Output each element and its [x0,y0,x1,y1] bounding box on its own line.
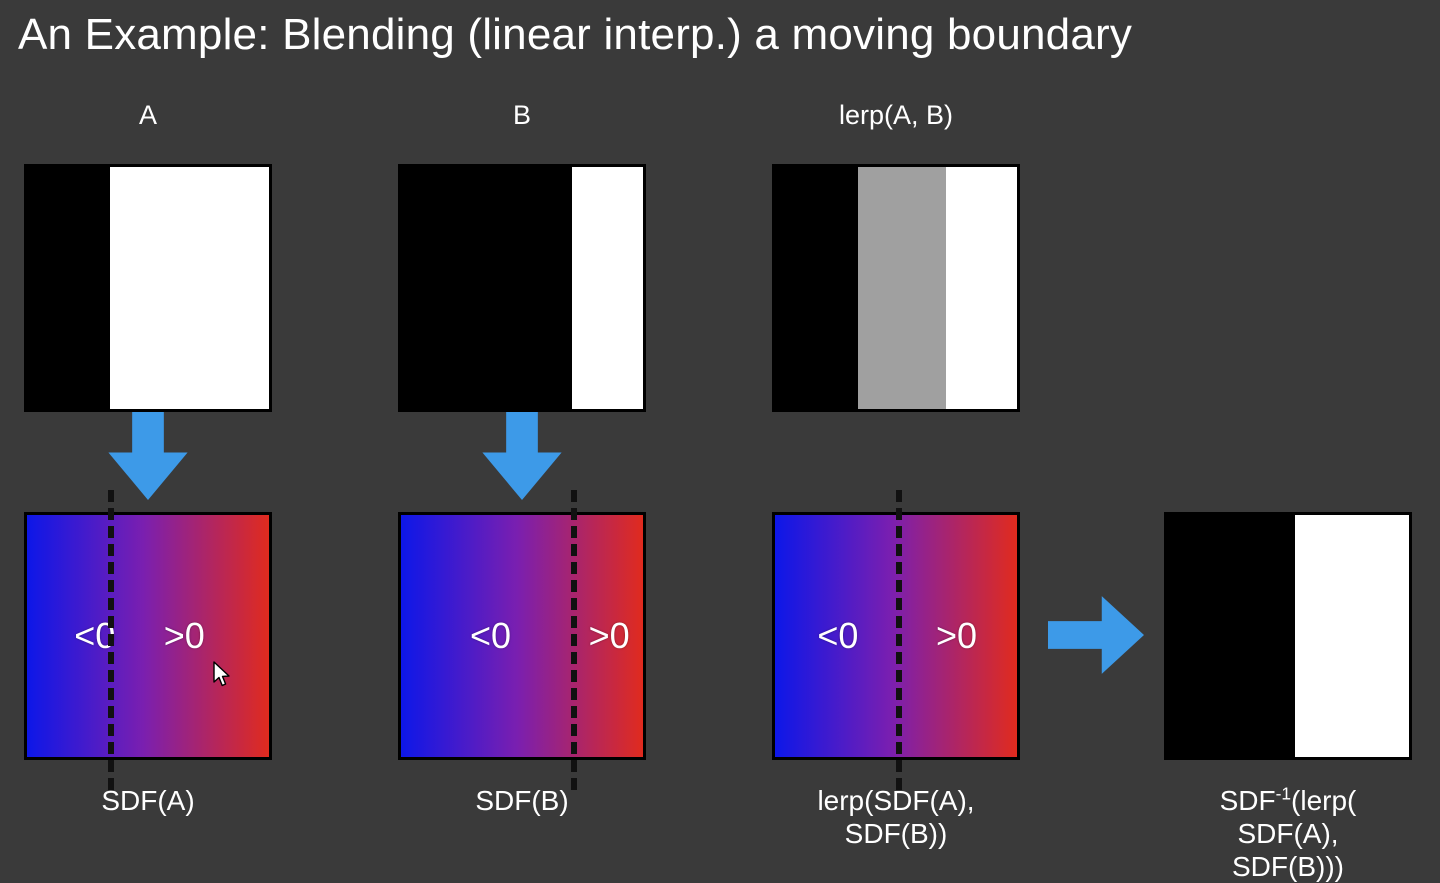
caption-sdf-b: SDF(B) [475,784,568,817]
page-title: An Example: Blending (linear interp.) a … [18,10,1132,60]
caption-result-sdf-text: SDF [1220,785,1276,816]
column-label-a: A [139,100,157,131]
panel-result-segment-black [1167,515,1295,757]
panel-lerp-segment-gray [858,167,945,409]
slide-canvas: An Example: Blending (linear interp.) a … [0,0,1440,869]
caption-sdf-lerp: lerp(SDF(A),SDF(B)) [817,784,974,850]
arrow-b-to-sdfb-icon [478,412,566,500]
column-label-lerp-ab: lerp(A, B) [839,100,953,131]
panel-a-segment-black [27,167,110,409]
sdf-a-zero-crossing-line [108,490,114,790]
panel-sdf-b: <0 >0 [398,512,646,760]
caption-result-superscript: -1 [1276,784,1291,804]
panel-sdf-a: <0 >0 [24,512,272,760]
arrow-sdflerp-to-result-icon [1048,594,1144,676]
panel-lerp-segment-white [946,167,1017,409]
sdf-lerp-zero-crossing-line [896,490,902,790]
caption-result-lerp-text: (lerp( [1291,785,1356,816]
sdf-lerp-positive-label: >0 [936,615,977,657]
panel-b-segment-black [401,167,572,409]
caption-sdf-lerp-line2: SDF(B)) [845,818,948,849]
caption-result: SDF-1(lerp(SDF(A), SDF(B))) [1212,784,1364,883]
sdf-b-negative-label: <0 [470,615,511,657]
sdf-a-positive-label: >0 [164,615,205,657]
sdf-b-positive-label: >0 [589,615,630,657]
column-label-b: B [513,100,531,131]
panel-lerp-ab-image [772,164,1020,412]
panel-result-image [1164,512,1412,760]
sdf-a-gradient [27,515,269,757]
caption-result-line2: SDF(A), SDF(B))) [1232,818,1344,882]
panel-a-image [24,164,272,412]
panel-a-segment-white [110,167,269,409]
sdf-lerp-negative-label: <0 [817,615,858,657]
sdf-b-zero-crossing-line [571,490,577,790]
arrow-a-to-sdfa-icon [104,412,192,500]
caption-sdf-a: SDF(A) [101,784,194,817]
panel-b-image [398,164,646,412]
panel-b-segment-white [572,167,643,409]
panel-lerp-segment-black [775,167,858,409]
caption-result-line1: SDF-1(lerp( [1220,785,1357,816]
panel-result-segment-white [1295,515,1409,757]
